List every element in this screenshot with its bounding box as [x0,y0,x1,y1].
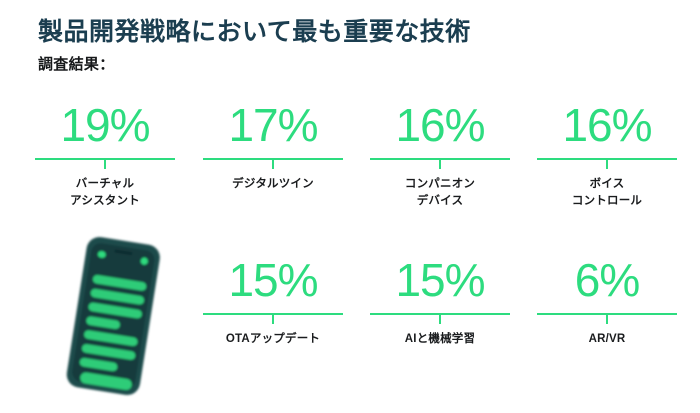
stat-voice-control: 16% ボイス コントロール [537,88,677,209]
stat-label: ボイス コントロール [537,176,677,209]
stat-label-line-1: AR/VR [537,331,677,348]
stat-label-line-1: ボイス [537,176,677,193]
stat-virtual-assistant: 19% バーチャル アシスタント [35,88,175,209]
stat-divider [35,158,175,172]
divider-tick [104,160,106,169]
stat-ar-vr: 6% AR/VR [537,243,677,348]
stat-label-line-1: デジタルツイン [203,176,343,193]
infographic-root: 製品開発戦略において最も重要な技術 調査結果： 19% バーチャル アシスタント… [0,0,700,413]
divider-tick [606,315,608,324]
stat-value: 15% [370,243,510,303]
header: 製品開発戦略において最も重要な技術 調査結果： [38,18,678,74]
stat-value: 6% [537,243,677,303]
stat-label-line-2: コントロール [537,193,677,210]
stat-label: OTAアップデート [203,331,343,348]
smartphone-illustration [38,228,188,408]
stat-divider [537,158,677,172]
stat-label: コンパニオン デバイス [370,176,510,209]
stat-label: AR/VR [537,331,677,348]
stat-divider [537,313,677,327]
stat-label-line-2: アシスタント [35,193,175,210]
stat-value: 16% [370,88,510,148]
stat-digital-twin: 17% デジタルツイン [203,88,343,193]
stat-label-line-1: コンパニオン [370,176,510,193]
smartphone-icon [38,228,188,408]
divider-tick [439,160,441,169]
divider-tick [439,315,441,324]
stat-ai-machine-learning: 15% AIと機械学習 [370,243,510,348]
page-title: 製品開発戦略において最も重要な技術 [38,18,678,47]
stat-label: デジタルツイン [203,176,343,193]
stat-label-line-1: バーチャル [35,176,175,193]
stat-divider [203,158,343,172]
stat-label: AIと機械学習 [370,331,510,348]
stat-divider [370,158,510,172]
stat-divider [370,313,510,327]
stat-value: 16% [537,88,677,148]
stat-label: バーチャル アシスタント [35,176,175,209]
stat-label-line-1: OTAアップデート [203,331,343,348]
stat-divider [203,313,343,327]
stat-ota-update: 15% OTAアップデート [203,243,343,348]
stat-label-line-1: AIと機械学習 [370,331,510,348]
divider-tick [272,160,274,169]
stat-value: 17% [203,88,343,148]
stat-companion-device: 16% コンパニオン デバイス [370,88,510,209]
stat-value: 19% [35,88,175,148]
divider-tick [272,315,274,324]
divider-tick [606,160,608,169]
stat-label-line-2: デバイス [370,193,510,210]
stat-value: 15% [203,243,343,303]
page-subtitle: 調査結果： [38,53,678,74]
